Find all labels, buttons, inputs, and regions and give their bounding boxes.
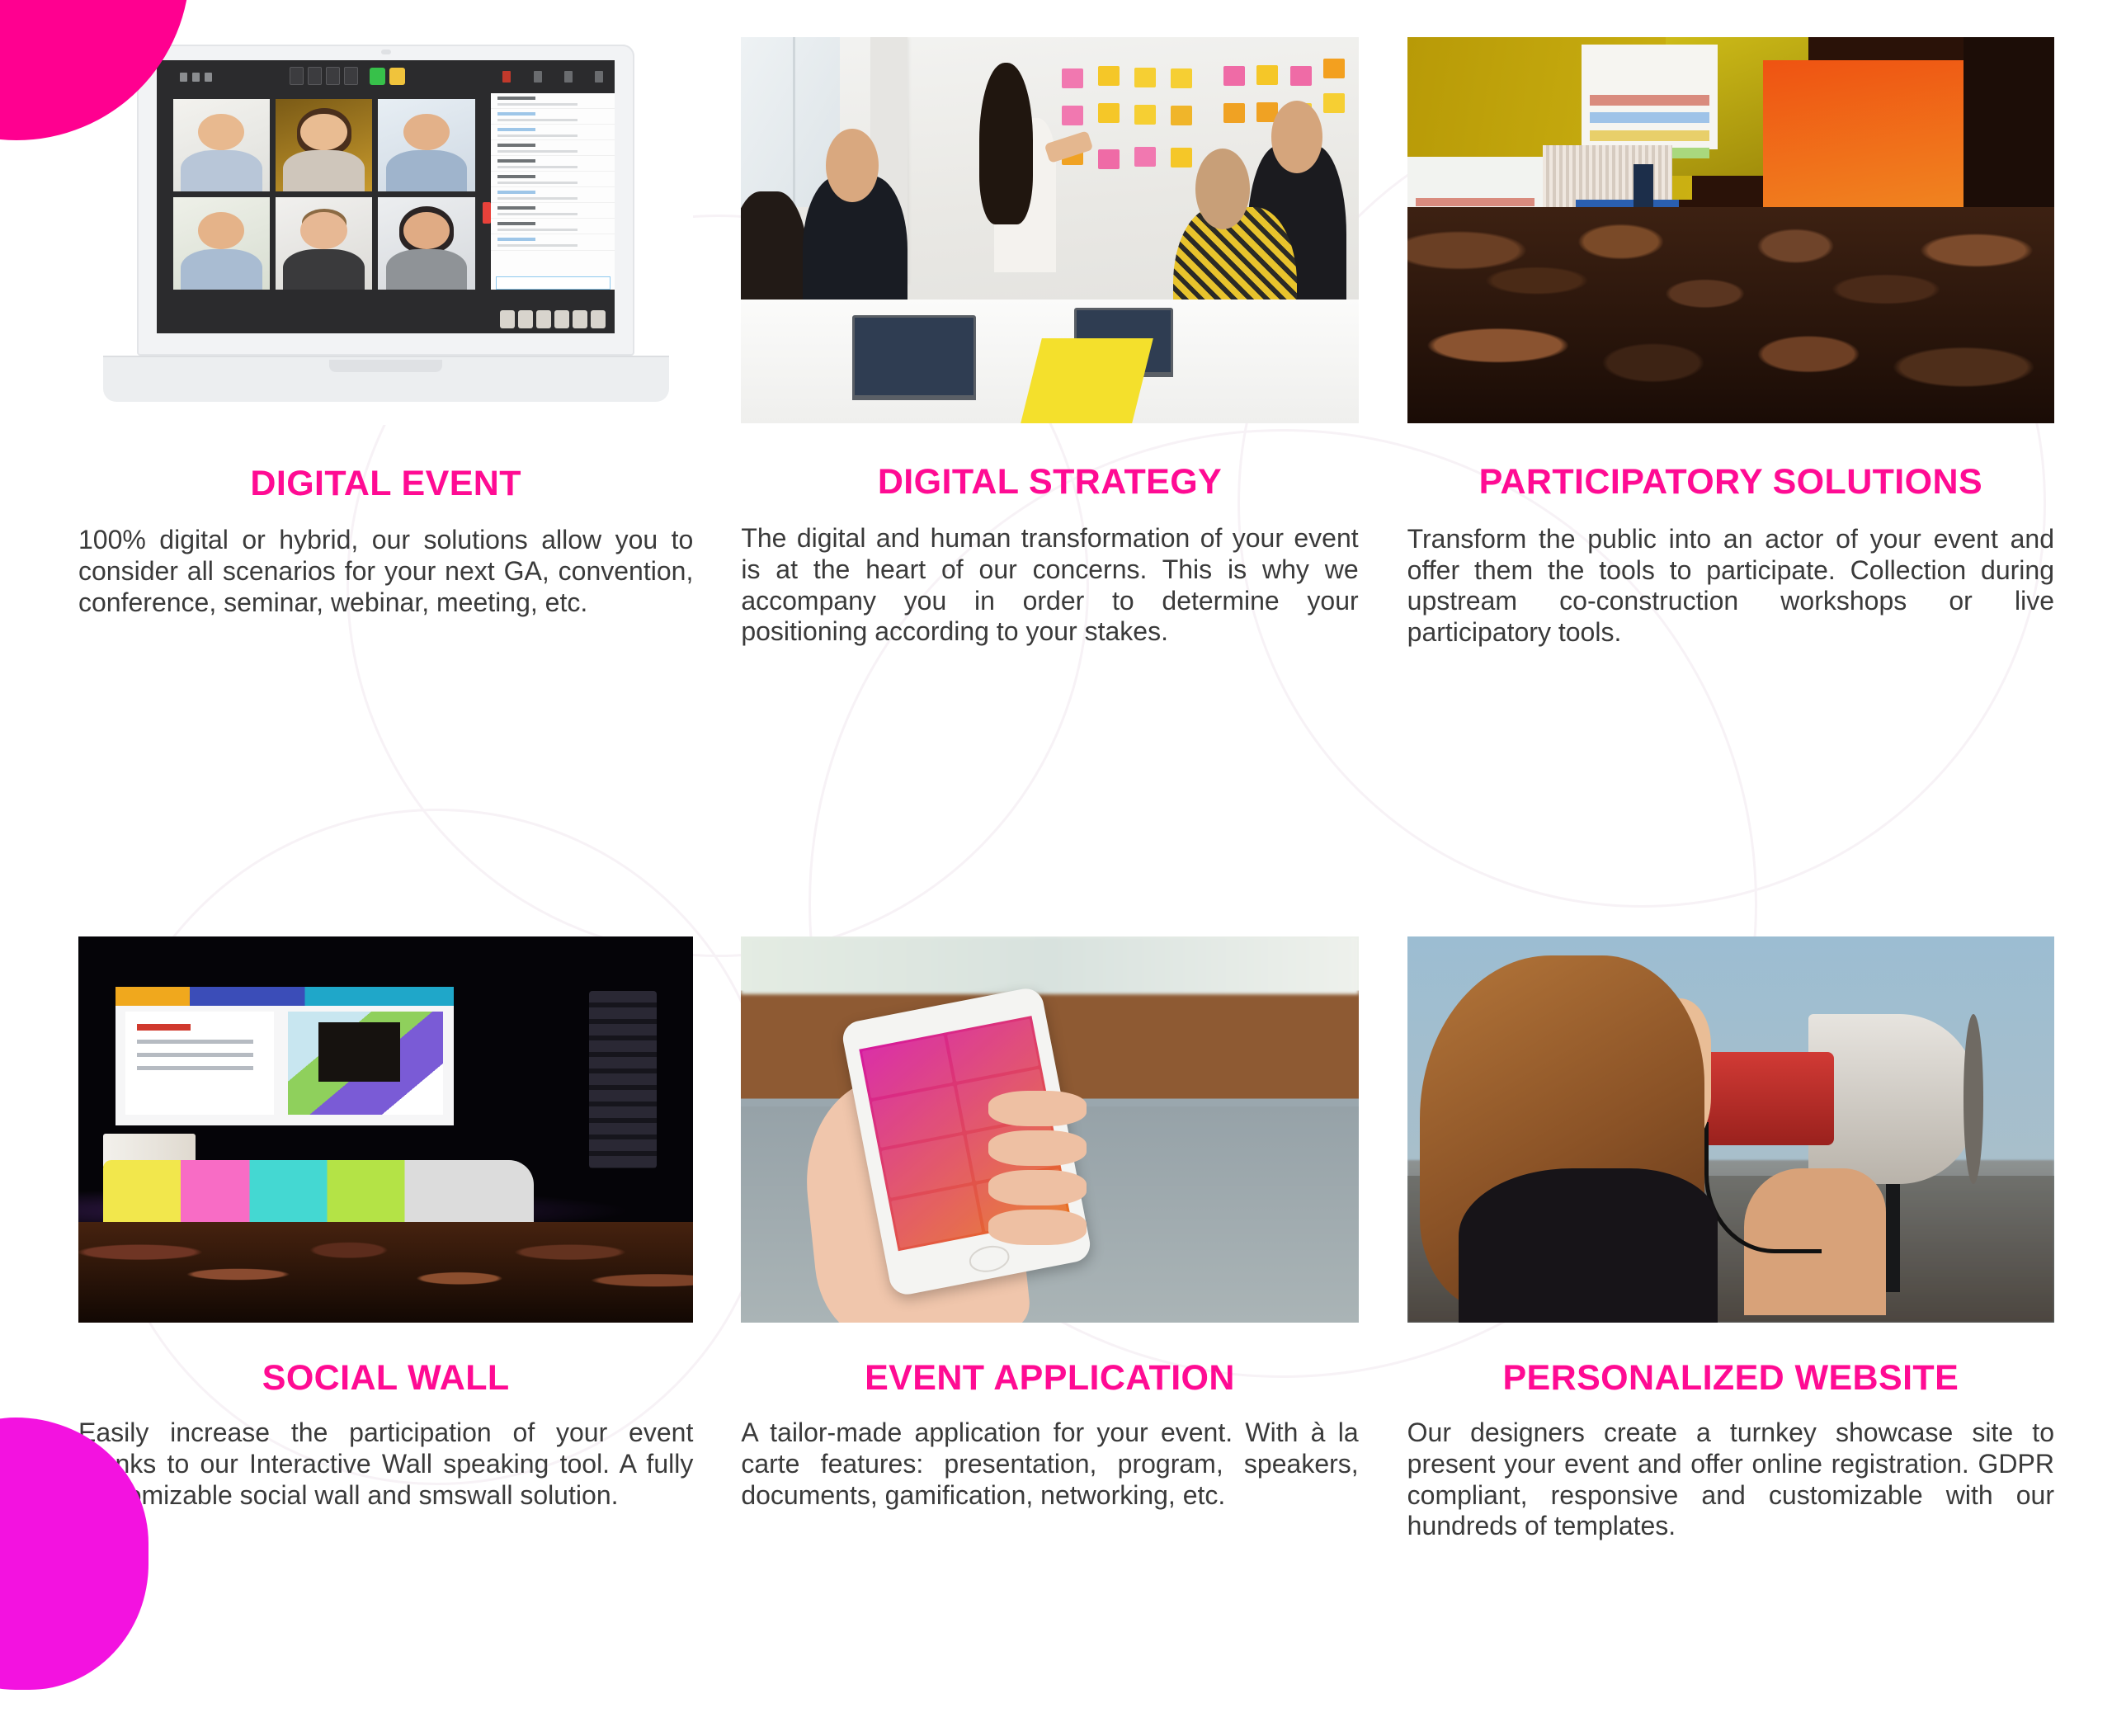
status-green-icon	[370, 68, 385, 85]
participant-tile	[173, 99, 270, 191]
chat-message-row	[491, 93, 615, 109]
screen-video-panel	[288, 1012, 444, 1115]
participant-grid	[173, 99, 475, 290]
stage-wall-orange	[1763, 60, 1990, 230]
stage-screen	[1582, 45, 1718, 149]
control-button	[344, 67, 358, 85]
audience-crowd	[78, 1222, 693, 1323]
sidebar-tabs	[491, 60, 615, 93]
card-title-personalized-website: PERSONALIZED WEBSITE	[1407, 1356, 2054, 1401]
toolbar-icon	[180, 73, 187, 82]
social-wall-photo	[78, 936, 693, 1323]
stage-led-screen	[115, 987, 454, 1125]
card-image-personalized-website	[1407, 936, 2054, 1323]
record-indicator-icon	[483, 202, 491, 224]
card-event-application: EVENT APPLICATION A tailor-made applicat…	[737, 936, 1395, 1736]
card-image-participatory-solutions	[1407, 37, 2054, 423]
participant-tile	[378, 197, 474, 290]
card-title-digital-strategy: DIGITAL STRATEGY	[741, 460, 1358, 505]
laptop-icon	[852, 315, 976, 400]
chat-send-button	[496, 276, 610, 290]
laptop-camera-icon	[381, 50, 391, 54]
card-body-event-application: A tailor-made application for your event…	[741, 1418, 1358, 1511]
screen-header-band	[115, 987, 454, 1007]
participant-tile	[378, 99, 474, 191]
video-call-controls	[290, 67, 405, 85]
participant-tile	[276, 197, 372, 290]
toolbar-icon	[192, 73, 200, 82]
card-body-digital-event: 100% digital or hybrid, our solutions al…	[78, 525, 693, 618]
card-body-participatory-solutions: Transform the public into an actor of yo…	[1407, 524, 2054, 649]
services-grid: DIGITAL EVENT 100% digital or hybrid, ou…	[0, 0, 2112, 1736]
line-array-speakers	[589, 991, 657, 1168]
avatar	[573, 310, 587, 328]
chat-message-row	[491, 187, 615, 203]
chat-message-row	[491, 172, 615, 187]
fingers	[988, 1091, 1087, 1268]
workshop-photo	[741, 37, 1358, 423]
laptop-screen	[157, 60, 615, 333]
avatar	[518, 310, 533, 328]
conference-photo	[1407, 37, 2054, 423]
brochure-page: DIGITAL EVENT 100% digital or hybrid, ou…	[0, 0, 2112, 1736]
chat-message-row	[491, 203, 615, 219]
card-digital-strategy: DIGITAL STRATEGY The digital and human t…	[737, 37, 1395, 936]
chat-message-row	[491, 109, 615, 125]
chat-message-row	[491, 234, 615, 250]
card-title-digital-event: DIGITAL EVENT	[78, 461, 693, 507]
card-participatory-solutions: PARTICIPATORY SOLUTIONS Transform the pu…	[1396, 37, 2054, 936]
control-button	[308, 67, 322, 85]
laptop-lid	[137, 45, 634, 355]
facilitator-figure	[994, 118, 1056, 272]
card-image-digital-event	[78, 37, 693, 425]
chat-message-row	[491, 125, 615, 140]
card-digital-event: DIGITAL EVENT 100% digital or hybrid, ou…	[78, 37, 737, 936]
tab-icon	[564, 71, 573, 83]
participant-tile	[276, 99, 372, 191]
card-image-digital-strategy	[741, 37, 1358, 423]
avatar	[536, 310, 551, 328]
laptop-base	[103, 356, 669, 402]
control-button	[290, 67, 304, 85]
card-image-event-application	[741, 936, 1358, 1323]
avatar	[554, 310, 569, 328]
card-body-personalized-website: Our designers create a turnkey showcase …	[1407, 1418, 2054, 1542]
yellow-paper	[1021, 338, 1153, 423]
toolbar-icon	[205, 73, 212, 82]
tab-icon	[502, 71, 511, 83]
tab-icon	[534, 71, 542, 83]
chat-message-row	[491, 156, 615, 172]
screen-message-panel	[125, 1012, 274, 1115]
card-title-participatory-solutions: PARTICIPATORY SOLUTIONS	[1407, 460, 2054, 506]
tab-icon	[595, 71, 603, 83]
participant-tile	[173, 197, 270, 290]
participant-avatar-strip	[500, 310, 606, 328]
card-body-digital-strategy: The digital and human transformation of …	[741, 523, 1358, 648]
facilitator-hair	[979, 63, 1032, 225]
avatar	[591, 310, 606, 328]
laptop-illustration	[103, 45, 669, 401]
card-title-event-application: EVENT APPLICATION	[741, 1356, 1358, 1401]
card-body-social-wall: Easily increase the participation of you…	[78, 1418, 693, 1511]
card-personalized-website: PERSONALIZED WEBSITE Our designers creat…	[1396, 936, 2054, 1736]
card-social-wall: SOCIAL WALL Easily increase the particip…	[78, 936, 737, 1736]
screen-content-bars	[1590, 95, 1709, 143]
audience-crowd	[1407, 207, 2054, 423]
card-title-social-wall: SOCIAL WALL	[78, 1356, 693, 1401]
chat-message-row	[491, 219, 615, 234]
phone-photo	[741, 936, 1358, 1323]
warning-amber-icon	[389, 68, 405, 85]
megaphone-photo	[1407, 936, 2054, 1323]
chat-message-row	[491, 140, 615, 156]
chat-sidebar	[491, 93, 615, 290]
avatar	[500, 310, 515, 328]
control-button	[326, 67, 340, 85]
shoulder	[1459, 1168, 1718, 1323]
card-image-social-wall	[78, 936, 693, 1323]
background-blur-top	[741, 936, 1358, 994]
